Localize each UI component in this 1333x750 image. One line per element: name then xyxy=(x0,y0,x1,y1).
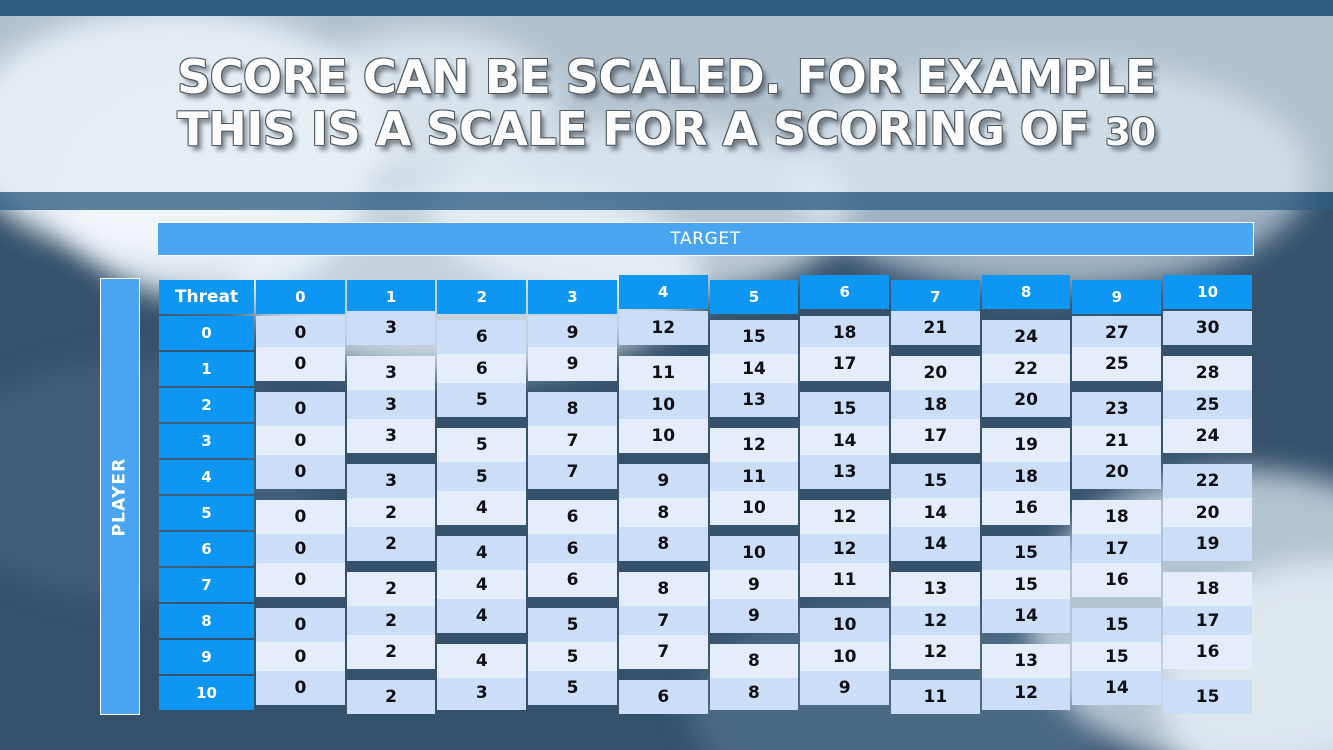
table-row: 80245791012141517 xyxy=(159,604,1252,638)
table-row: 0036912151821242730 xyxy=(159,316,1252,350)
matrix-cell: 3 xyxy=(347,356,436,390)
matrix-corner-header: Threat xyxy=(159,280,254,314)
matrix-row-header: 1 xyxy=(159,352,254,386)
matrix-cell: 0 xyxy=(256,455,345,489)
matrix-cell: 6 xyxy=(437,352,526,386)
matrix-cell: 7 xyxy=(619,635,708,669)
matrix-cell: 0 xyxy=(256,563,345,597)
matrix-cell: 19 xyxy=(1163,527,1252,561)
matrix-cell: 2 xyxy=(347,572,436,606)
matrix-cell: 20 xyxy=(982,383,1071,417)
matrix-cell: 0 xyxy=(256,640,345,674)
matrix-cell: 18 xyxy=(1163,572,1252,606)
matrix-cell: 9 xyxy=(528,316,617,350)
matrix-cell: 7 xyxy=(619,604,708,638)
table-row: 10023568911121415 xyxy=(159,676,1252,710)
matrix-cell: 4 xyxy=(437,536,526,570)
matrix-cell: 17 xyxy=(1163,604,1252,638)
matrix-cell: 0 xyxy=(256,316,345,350)
table-row: 602468101214151719 xyxy=(159,532,1252,566)
matrix-cell: 6 xyxy=(528,563,617,597)
matrix-col-header: 4 xyxy=(619,275,708,309)
matrix-cell: 6 xyxy=(437,320,526,354)
matrix-cell: 17 xyxy=(1072,532,1161,566)
matrix-cell: 21 xyxy=(891,311,980,345)
matrix-cell: 3 xyxy=(347,464,436,498)
matrix-col-header: 9 xyxy=(1072,280,1161,314)
title-bottom-accent-bar xyxy=(0,192,1333,210)
matrix-cell: 6 xyxy=(528,500,617,534)
matrix-col-header: 10 xyxy=(1163,275,1252,309)
matrix-col-header: 3 xyxy=(528,280,617,314)
matrix-row-header: 3 xyxy=(159,424,254,458)
title-scale-value: 30 xyxy=(1105,111,1156,154)
matrix-cell: 5 xyxy=(437,460,526,494)
matrix-cell: 2 xyxy=(347,635,436,669)
matrix-cell: 18 xyxy=(1072,500,1161,534)
matrix-col-header: 0 xyxy=(256,280,345,314)
matrix-cell: 28 xyxy=(1163,356,1252,390)
matrix-cell: 9 xyxy=(710,599,799,633)
matrix-cell: 8 xyxy=(710,676,799,710)
target-axis-header: TARGET xyxy=(157,222,1254,256)
matrix-cell: 13 xyxy=(710,383,799,417)
matrix-cell: 18 xyxy=(891,388,980,422)
matrix-cell: 14 xyxy=(891,527,980,561)
table-row: 3035710121417192124 xyxy=(159,424,1252,458)
matrix-cell: 14 xyxy=(710,352,799,386)
matrix-cell: 2 xyxy=(347,496,436,530)
matrix-cell: 14 xyxy=(1072,671,1161,705)
matrix-cell: 20 xyxy=(891,356,980,390)
matrix-cell: 12 xyxy=(891,604,980,638)
matrix-cell: 15 xyxy=(1072,640,1161,674)
table-row: 1036911141720222528 xyxy=(159,352,1252,386)
matrix-cell: 0 xyxy=(256,532,345,566)
matrix-col-header: 1 xyxy=(347,280,436,314)
matrix-cell: 23 xyxy=(1072,392,1161,426)
player-axis-header: PLAYER xyxy=(100,278,140,715)
matrix-cell: 25 xyxy=(1072,347,1161,381)
matrix-cell: 12 xyxy=(710,428,799,462)
title-top-accent-bar xyxy=(0,0,1333,16)
slide: Score can be scaled. For example this is… xyxy=(0,0,1333,750)
matrix-cell: 10 xyxy=(710,536,799,570)
matrix-cell: 15 xyxy=(710,320,799,354)
matrix-cell: 10 xyxy=(619,388,708,422)
matrix-col-header: 2 xyxy=(437,280,526,314)
matrix-col-header: 7 xyxy=(891,280,980,314)
matrix-cell: 22 xyxy=(982,352,1071,386)
matrix-cell: 0 xyxy=(256,424,345,458)
matrix-cell: 15 xyxy=(891,464,980,498)
matrix-cell: 16 xyxy=(1163,635,1252,669)
matrix-cell: 17 xyxy=(891,419,980,453)
matrix-row-header: 9 xyxy=(159,640,254,674)
matrix-cell: 3 xyxy=(437,676,526,710)
matrix-cell: 5 xyxy=(437,383,526,417)
matrix-cell: 2 xyxy=(347,680,436,714)
matrix-cell: 12 xyxy=(619,311,708,345)
matrix-row-header: 8 xyxy=(159,604,254,638)
matrix-col-header: 5 xyxy=(710,280,799,314)
matrix-cell: 12 xyxy=(800,500,889,534)
matrix-cell: 11 xyxy=(710,460,799,494)
matrix-cell: 5 xyxy=(528,671,617,705)
matrix-cell: 13 xyxy=(891,572,980,606)
matrix-cell: 15 xyxy=(1163,680,1252,714)
matrix-cell: 0 xyxy=(256,392,345,426)
matrix-cell: 0 xyxy=(256,500,345,534)
matrix-cell: 24 xyxy=(1163,419,1252,453)
matrix-cell: 7 xyxy=(528,455,617,489)
matrix-cell: 13 xyxy=(800,455,889,489)
matrix-cell: 18 xyxy=(800,316,889,350)
matrix-cell: 18 xyxy=(982,460,1071,494)
matrix-cell: 6 xyxy=(619,680,708,714)
matrix-row-header: 10 xyxy=(159,676,254,710)
matrix-cell: 10 xyxy=(800,640,889,674)
matrix-cell: 2 xyxy=(347,527,436,561)
matrix-cell: 9 xyxy=(528,347,617,381)
matrix-body: 0036912151821242730103691114172022252820… xyxy=(159,316,1252,710)
matrix-cell: 16 xyxy=(1072,563,1161,597)
matrix-cell: 11 xyxy=(800,563,889,597)
matrix-cell: 20 xyxy=(1072,455,1161,489)
matrix-cell: 21 xyxy=(1072,424,1161,458)
matrix-cell: 15 xyxy=(982,536,1071,570)
title-line-2-text: this is a scale for a scoring of xyxy=(177,102,1089,156)
matrix-cell: 9 xyxy=(619,464,708,498)
matrix-cell: 11 xyxy=(619,356,708,390)
matrix-cell: 0 xyxy=(256,347,345,381)
title-line-2: this is a scale for a scoring of 30 xyxy=(117,104,1217,156)
score-scale-matrix: Threat 012345678910 00369121518212427301… xyxy=(157,278,1254,712)
table-row: 90245781012131516 xyxy=(159,640,1252,674)
matrix-cell: 11 xyxy=(891,680,980,714)
matrix-cell: 14 xyxy=(982,599,1071,633)
player-axis-label: PLAYER xyxy=(110,457,130,536)
matrix-row-header: 5 xyxy=(159,496,254,530)
table-row: 403579111315182022 xyxy=(159,460,1252,494)
matrix-col-header: 6 xyxy=(800,275,889,309)
matrix-cell: 22 xyxy=(1163,464,1252,498)
matrix-cell: 25 xyxy=(1163,388,1252,422)
matrix-cell: 15 xyxy=(800,392,889,426)
matrix-cell: 2 xyxy=(347,604,436,638)
matrix-cell: 0 xyxy=(256,608,345,642)
table-row: 70246891113151618 xyxy=(159,568,1252,602)
matrix-cell: 10 xyxy=(619,419,708,453)
matrix-cell: 10 xyxy=(800,608,889,642)
page-title: Score can be scaled. For example this is… xyxy=(117,52,1217,155)
target-axis-label: TARGET xyxy=(670,229,740,249)
matrix-cell: 8 xyxy=(710,644,799,678)
matrix-cell: 0 xyxy=(256,671,345,705)
matrix-cell: 8 xyxy=(619,496,708,530)
matrix-cell: 15 xyxy=(982,568,1071,602)
title-line-1: Score can be scaled. For example xyxy=(117,52,1217,104)
matrix-cell: 7 xyxy=(528,424,617,458)
matrix-cell: 6 xyxy=(528,532,617,566)
table-row: 2035810131518202325 xyxy=(159,388,1252,422)
matrix-cell: 3 xyxy=(347,419,436,453)
matrix-row-header: 7 xyxy=(159,568,254,602)
table-row: 502468101214161820 xyxy=(159,496,1252,530)
matrix-cell: 30 xyxy=(1163,311,1252,345)
title-banner: Score can be scaled. For example this is… xyxy=(0,16,1333,192)
matrix-cell: 14 xyxy=(891,496,980,530)
matrix-cell: 9 xyxy=(710,568,799,602)
matrix-header-row: Threat 012345678910 xyxy=(159,280,1252,314)
matrix-cell: 19 xyxy=(982,428,1071,462)
matrix-cell: 5 xyxy=(528,640,617,674)
matrix-header: Threat 012345678910 xyxy=(159,280,1252,314)
matrix-row-header: 4 xyxy=(159,460,254,494)
matrix-cell: 12 xyxy=(982,676,1071,710)
matrix-cell: 16 xyxy=(982,491,1071,525)
matrix-cell: 4 xyxy=(437,644,526,678)
matrix-row-header: 0 xyxy=(159,316,254,350)
matrix-row-header: 2 xyxy=(159,388,254,422)
matrix-cell: 5 xyxy=(528,608,617,642)
matrix-cell: 3 xyxy=(347,311,436,345)
matrix-cell: 12 xyxy=(891,635,980,669)
matrix-cell: 14 xyxy=(800,424,889,458)
matrix-cell: 17 xyxy=(800,347,889,381)
matrix-cell: 13 xyxy=(982,644,1071,678)
matrix-cell: 8 xyxy=(619,527,708,561)
matrix-cell: 8 xyxy=(528,392,617,426)
matrix-col-header: 8 xyxy=(982,275,1071,309)
matrix-cell: 3 xyxy=(347,388,436,422)
matrix-cell: 10 xyxy=(710,491,799,525)
matrix-row-header: 6 xyxy=(159,532,254,566)
matrix-cell: 4 xyxy=(437,599,526,633)
matrix-cell: 12 xyxy=(800,532,889,566)
matrix-cell: 4 xyxy=(437,568,526,602)
matrix-cell: 24 xyxy=(982,320,1071,354)
matrix-cell: 20 xyxy=(1163,496,1252,530)
matrix-cell: 5 xyxy=(437,428,526,462)
matrix-cell: 4 xyxy=(437,491,526,525)
matrix-cell: 15 xyxy=(1072,608,1161,642)
matrix-cell: 9 xyxy=(800,671,889,705)
matrix-cell: 27 xyxy=(1072,316,1161,350)
matrix-cell: 8 xyxy=(619,572,708,606)
